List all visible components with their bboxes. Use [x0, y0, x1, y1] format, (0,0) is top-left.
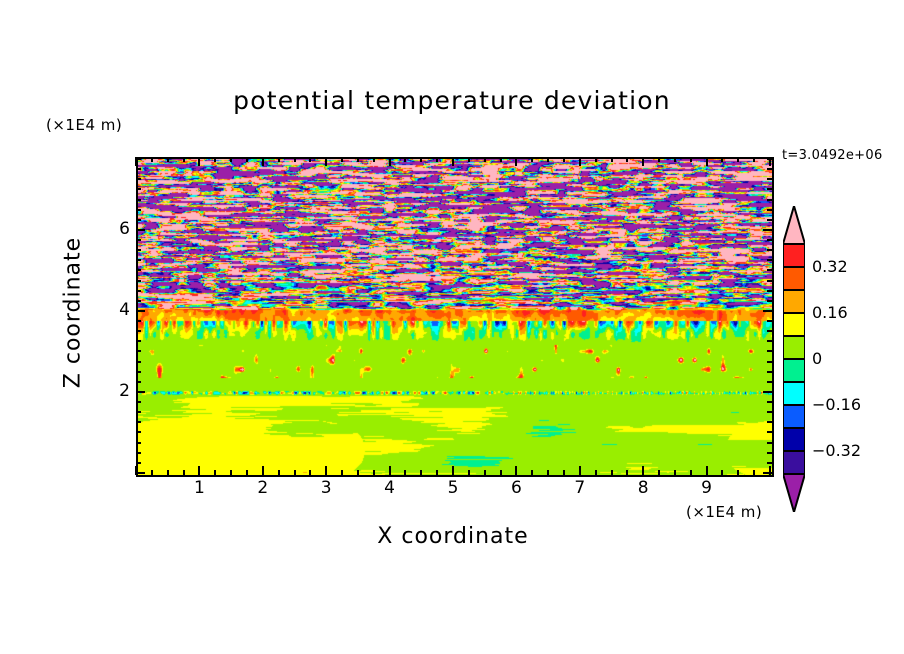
x-axis-tick-top — [484, 157, 486, 162]
x-axis-tick — [214, 470, 216, 475]
x-axis-tick-top — [595, 157, 597, 162]
x-axis-tick — [183, 470, 185, 475]
y-axis-tick — [136, 371, 141, 373]
y-axis-tick-right — [767, 300, 772, 302]
y-axis-tick — [136, 280, 141, 282]
y-axis-tick — [136, 391, 145, 393]
y-axis-tick-right — [767, 431, 772, 433]
y-axis-tick-right — [767, 209, 772, 211]
x-axis-tick — [547, 470, 549, 475]
x-axis-tick — [309, 470, 311, 475]
y-axis-tick — [136, 209, 141, 211]
y-axis-tick — [136, 361, 141, 363]
colorbar-tick-label: 0 — [812, 349, 822, 368]
x-axis-tick — [579, 466, 581, 475]
y-axis-tick — [136, 199, 141, 201]
x-axis-units-label: (×1E4 m) — [686, 503, 762, 521]
x-axis-tick-top — [579, 157, 581, 166]
x-axis-tick — [452, 466, 454, 475]
x-axis-tick-top — [611, 157, 613, 162]
y-axis-tick — [136, 462, 141, 464]
x-axis-tick-top — [737, 157, 739, 162]
x-axis-tick — [484, 470, 486, 475]
x-axis-tick — [737, 470, 739, 475]
colorbar-tick-label: 0.16 — [812, 303, 848, 322]
x-axis-tick-top — [198, 157, 200, 166]
y-axis-tick-label: 4 — [100, 300, 130, 320]
x-axis-tick — [246, 470, 248, 475]
y-axis-tick-right — [767, 199, 772, 201]
y-axis-tick-right — [767, 320, 772, 322]
x-axis-tick-top — [294, 157, 296, 162]
y-axis-tick — [136, 442, 141, 444]
y-axis-units-label: (×1E4 m) — [46, 116, 122, 134]
colorbar-tick-label: −0.16 — [812, 395, 861, 414]
x-axis-tick-top — [404, 157, 406, 162]
y-axis-tick-right — [767, 168, 772, 170]
y-axis-tick-right — [763, 229, 772, 231]
y-axis-tick — [136, 452, 141, 454]
x-axis-tick — [230, 470, 232, 475]
x-axis-tick — [611, 470, 613, 475]
x-axis-tick — [198, 466, 200, 475]
y-axis-tick-label: 2 — [100, 381, 130, 401]
time-annotation: t=3.0492e+06 — [782, 148, 883, 163]
x-axis-tick-top — [420, 157, 422, 162]
y-axis-tick — [136, 178, 141, 180]
y-axis-tick-right — [767, 381, 772, 383]
y-axis-tick-right — [767, 421, 772, 423]
y-axis-tick — [136, 269, 141, 271]
x-axis-tick-top — [151, 157, 153, 162]
y-axis-tick — [136, 290, 141, 292]
y-axis-tick — [136, 310, 145, 312]
y-axis-tick-right — [767, 249, 772, 251]
y-axis-tick-right — [767, 462, 772, 464]
x-axis-tick-top — [278, 157, 280, 162]
x-axis-tick-top — [357, 157, 359, 162]
x-axis-tick-top — [674, 157, 676, 162]
y-axis-tick — [136, 472, 145, 474]
y-axis-tick-right — [767, 411, 772, 413]
x-axis-tick-top — [753, 157, 755, 162]
x-axis-tick-label: 5 — [433, 478, 473, 498]
y-axis-tick-right — [767, 280, 772, 282]
x-axis-tick-label: 8 — [623, 478, 663, 498]
x-axis-tick-top — [721, 157, 723, 162]
y-axis-tick-right — [767, 401, 772, 403]
x-axis-tick — [595, 470, 597, 475]
x-axis-tick-top — [436, 157, 438, 162]
x-axis-tick — [515, 466, 517, 475]
y-axis-tick — [136, 411, 141, 413]
x-axis-tick — [325, 466, 327, 475]
x-axis-tick — [658, 470, 660, 475]
y-axis-tick — [136, 350, 141, 352]
y-axis-tick — [136, 340, 141, 342]
y-axis-tick — [136, 300, 141, 302]
x-axis-tick — [151, 470, 153, 475]
x-axis-tick — [626, 470, 628, 475]
x-axis-tick-top — [547, 157, 549, 162]
x-axis-tick-top — [214, 157, 216, 162]
x-axis-tick — [357, 470, 359, 475]
y-axis-tick — [136, 158, 141, 160]
x-axis-tick — [436, 470, 438, 475]
y-axis-tick-right — [767, 371, 772, 373]
y-axis-tick-right — [767, 259, 772, 261]
x-axis-tick — [294, 470, 296, 475]
x-axis-tick-label: 1 — [179, 478, 219, 498]
y-axis-tick-right — [767, 219, 772, 221]
x-axis-tick-top — [325, 157, 327, 166]
x-axis-tick-top — [531, 157, 533, 162]
x-axis-tick-top — [167, 157, 169, 162]
x-axis-tick-label: 6 — [496, 478, 536, 498]
page-title: potential temperature deviation — [0, 86, 904, 115]
x-axis-tick — [500, 470, 502, 475]
y-axis-tick — [136, 219, 141, 221]
y-axis-tick-right — [767, 178, 772, 180]
x-axis-tick — [468, 470, 470, 475]
x-axis-tick-top — [246, 157, 248, 162]
x-axis-tick-top — [452, 157, 454, 166]
x-axis-tick — [706, 466, 708, 475]
colorbar-swatches — [783, 206, 805, 512]
y-axis-tick — [136, 229, 145, 231]
colorbar — [783, 206, 805, 512]
x-axis-tick — [389, 466, 391, 475]
x-axis-tick — [167, 470, 169, 475]
x-axis-tick-top — [309, 157, 311, 162]
x-axis-tick — [373, 470, 375, 475]
figure-root: potential temperature deviation (×1E4 m)… — [0, 0, 904, 654]
x-axis-tick-top — [500, 157, 502, 162]
x-axis-tick — [642, 466, 644, 475]
x-axis-tick — [674, 470, 676, 475]
x-axis-tick-top — [690, 157, 692, 162]
y-axis-tick-right — [767, 350, 772, 352]
y-axis-tick-right — [763, 310, 772, 312]
x-axis-tick — [721, 470, 723, 475]
y-axis-tick — [136, 239, 141, 241]
x-axis-tick-label: 4 — [370, 478, 410, 498]
x-axis-tick-top — [658, 157, 660, 162]
x-axis-tick — [404, 470, 406, 475]
x-axis-tick-top — [642, 157, 644, 166]
y-axis-tick — [136, 188, 141, 190]
y-axis-title: Z coordinate — [61, 213, 86, 413]
x-axis-tick-top — [373, 157, 375, 162]
y-axis-tick-right — [767, 452, 772, 454]
x-axis-tick — [278, 470, 280, 475]
y-axis-tick-right — [767, 239, 772, 241]
y-axis-tick — [136, 330, 141, 332]
x-axis-tick-label: 2 — [243, 478, 283, 498]
x-axis-tick — [341, 470, 343, 475]
x-axis-tick-label: 3 — [306, 478, 346, 498]
plot-area — [136, 157, 774, 477]
x-axis-tick-top — [389, 157, 391, 166]
y-axis-tick-right — [767, 330, 772, 332]
x-axis-tick-label: 7 — [560, 478, 600, 498]
x-axis-tick — [531, 470, 533, 475]
x-axis-tick-top — [706, 157, 708, 166]
y-axis-tick-right — [767, 340, 772, 342]
x-axis-tick-top — [341, 157, 343, 162]
x-axis-tick — [262, 466, 264, 475]
y-axis-tick — [136, 431, 141, 433]
y-axis-tick — [136, 249, 141, 251]
x-axis-tick — [753, 470, 755, 475]
y-axis-tick-right — [767, 290, 772, 292]
colorbar-tick-label: 0.32 — [812, 257, 848, 276]
x-axis-tick-top — [262, 157, 264, 166]
x-axis-tick-top — [230, 157, 232, 162]
y-axis-tick — [136, 168, 141, 170]
y-axis-tick-right — [767, 361, 772, 363]
y-axis-tick — [136, 401, 141, 403]
y-axis-tick — [136, 421, 141, 423]
x-axis-tick-label: 9 — [687, 478, 727, 498]
x-axis-tick-top — [183, 157, 185, 162]
x-axis-tick-top — [563, 157, 565, 162]
y-axis-tick — [136, 320, 141, 322]
x-axis-tick-top — [515, 157, 517, 166]
y-axis-tick-right — [767, 158, 772, 160]
x-axis-tick — [420, 470, 422, 475]
x-axis-tick-top — [626, 157, 628, 162]
colorbar-tick-label: −0.32 — [812, 441, 861, 460]
y-axis-tick-label: 6 — [100, 219, 130, 239]
y-axis-tick-right — [767, 269, 772, 271]
x-axis-tick — [690, 470, 692, 475]
y-axis-tick-right — [767, 188, 772, 190]
x-axis-tick-top — [468, 157, 470, 162]
y-axis-tick-right — [763, 472, 772, 474]
y-axis-tick — [136, 259, 141, 261]
y-axis-tick-right — [763, 391, 772, 393]
contour-field-canvas — [138, 159, 772, 475]
x-axis-title: X coordinate — [136, 524, 770, 549]
y-axis-tick — [136, 381, 141, 383]
y-axis-tick-right — [767, 442, 772, 444]
x-axis-tick — [563, 470, 565, 475]
